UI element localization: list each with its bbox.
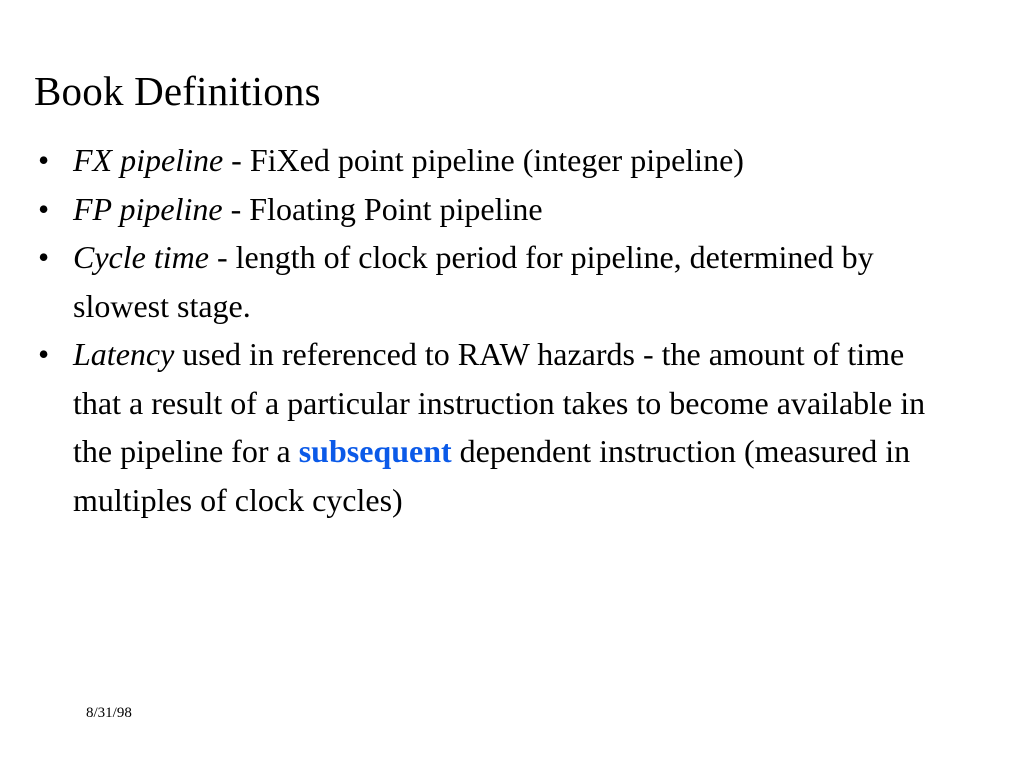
definition-term: Latency [73,336,174,372]
list-item: • FX pipeline - FiXed point pipeline (in… [34,136,954,185]
highlighted-word: subsequent [299,433,452,469]
bullet-icon: • [38,233,58,282]
footer-date: 8/31/98 [86,703,132,723]
list-item-text: FP pipeline - Floating Point pipeline [73,185,954,234]
bullet-icon: • [38,136,58,185]
bullet-icon: • [38,185,58,234]
list-item: • Cycle time - length of clock period fo… [34,233,954,330]
definition-body: - FiXed point pipeline (integer pipeline… [223,142,744,178]
list-item-text: FX pipeline - FiXed point pipeline (inte… [73,136,954,185]
definition-term: FX pipeline [73,142,223,178]
definition-term: Cycle time [73,239,209,275]
definition-term: FP pipeline [73,191,223,227]
definition-body: - Floating Point pipeline [223,191,543,227]
slide-canvas: Book Definitions • FX pipeline - FiXed p… [0,0,1024,768]
page-title: Book Definitions [34,67,974,115]
definitions-list: • FX pipeline - FiXed point pipeline (in… [34,136,954,524]
list-item: • FP pipeline - Floating Point pipeline [34,185,954,234]
list-item-text: Latency used in referenced to RAW hazard… [73,330,954,524]
list-item-text: Cycle time - length of clock period for … [73,233,954,330]
bullet-icon: • [38,330,58,379]
list-item: • Latency used in referenced to RAW haza… [34,330,954,524]
